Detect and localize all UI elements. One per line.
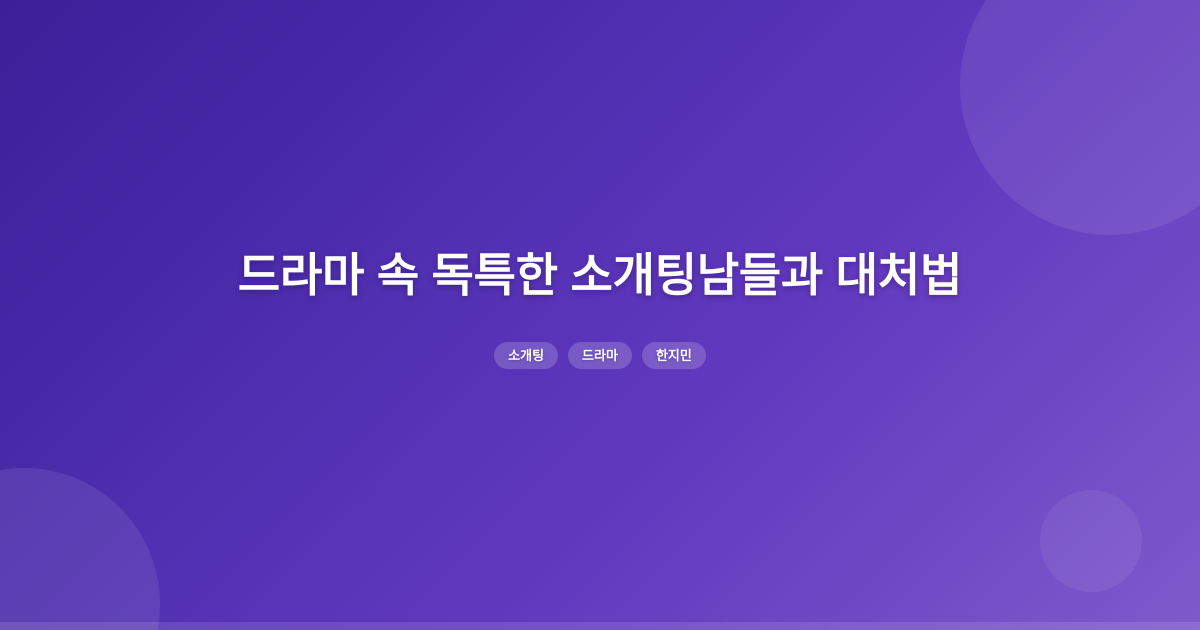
card-content: 드라마 속 독특한 소개팅남들과 대처법 소개팅 드라마 한지민 xyxy=(0,0,1200,630)
tag-pill[interactable]: 한지민 xyxy=(642,342,706,369)
tag-pill[interactable]: 드라마 xyxy=(568,342,632,369)
tag-list: 소개팅 드라마 한지민 xyxy=(494,342,706,369)
page-title: 드라마 속 독특한 소개팅남들과 대처법 xyxy=(238,245,962,306)
og-share-card: 드라마 속 독특한 소개팅남들과 대처법 소개팅 드라마 한지민 xyxy=(0,0,1200,630)
tag-pill[interactable]: 소개팅 xyxy=(494,342,558,369)
